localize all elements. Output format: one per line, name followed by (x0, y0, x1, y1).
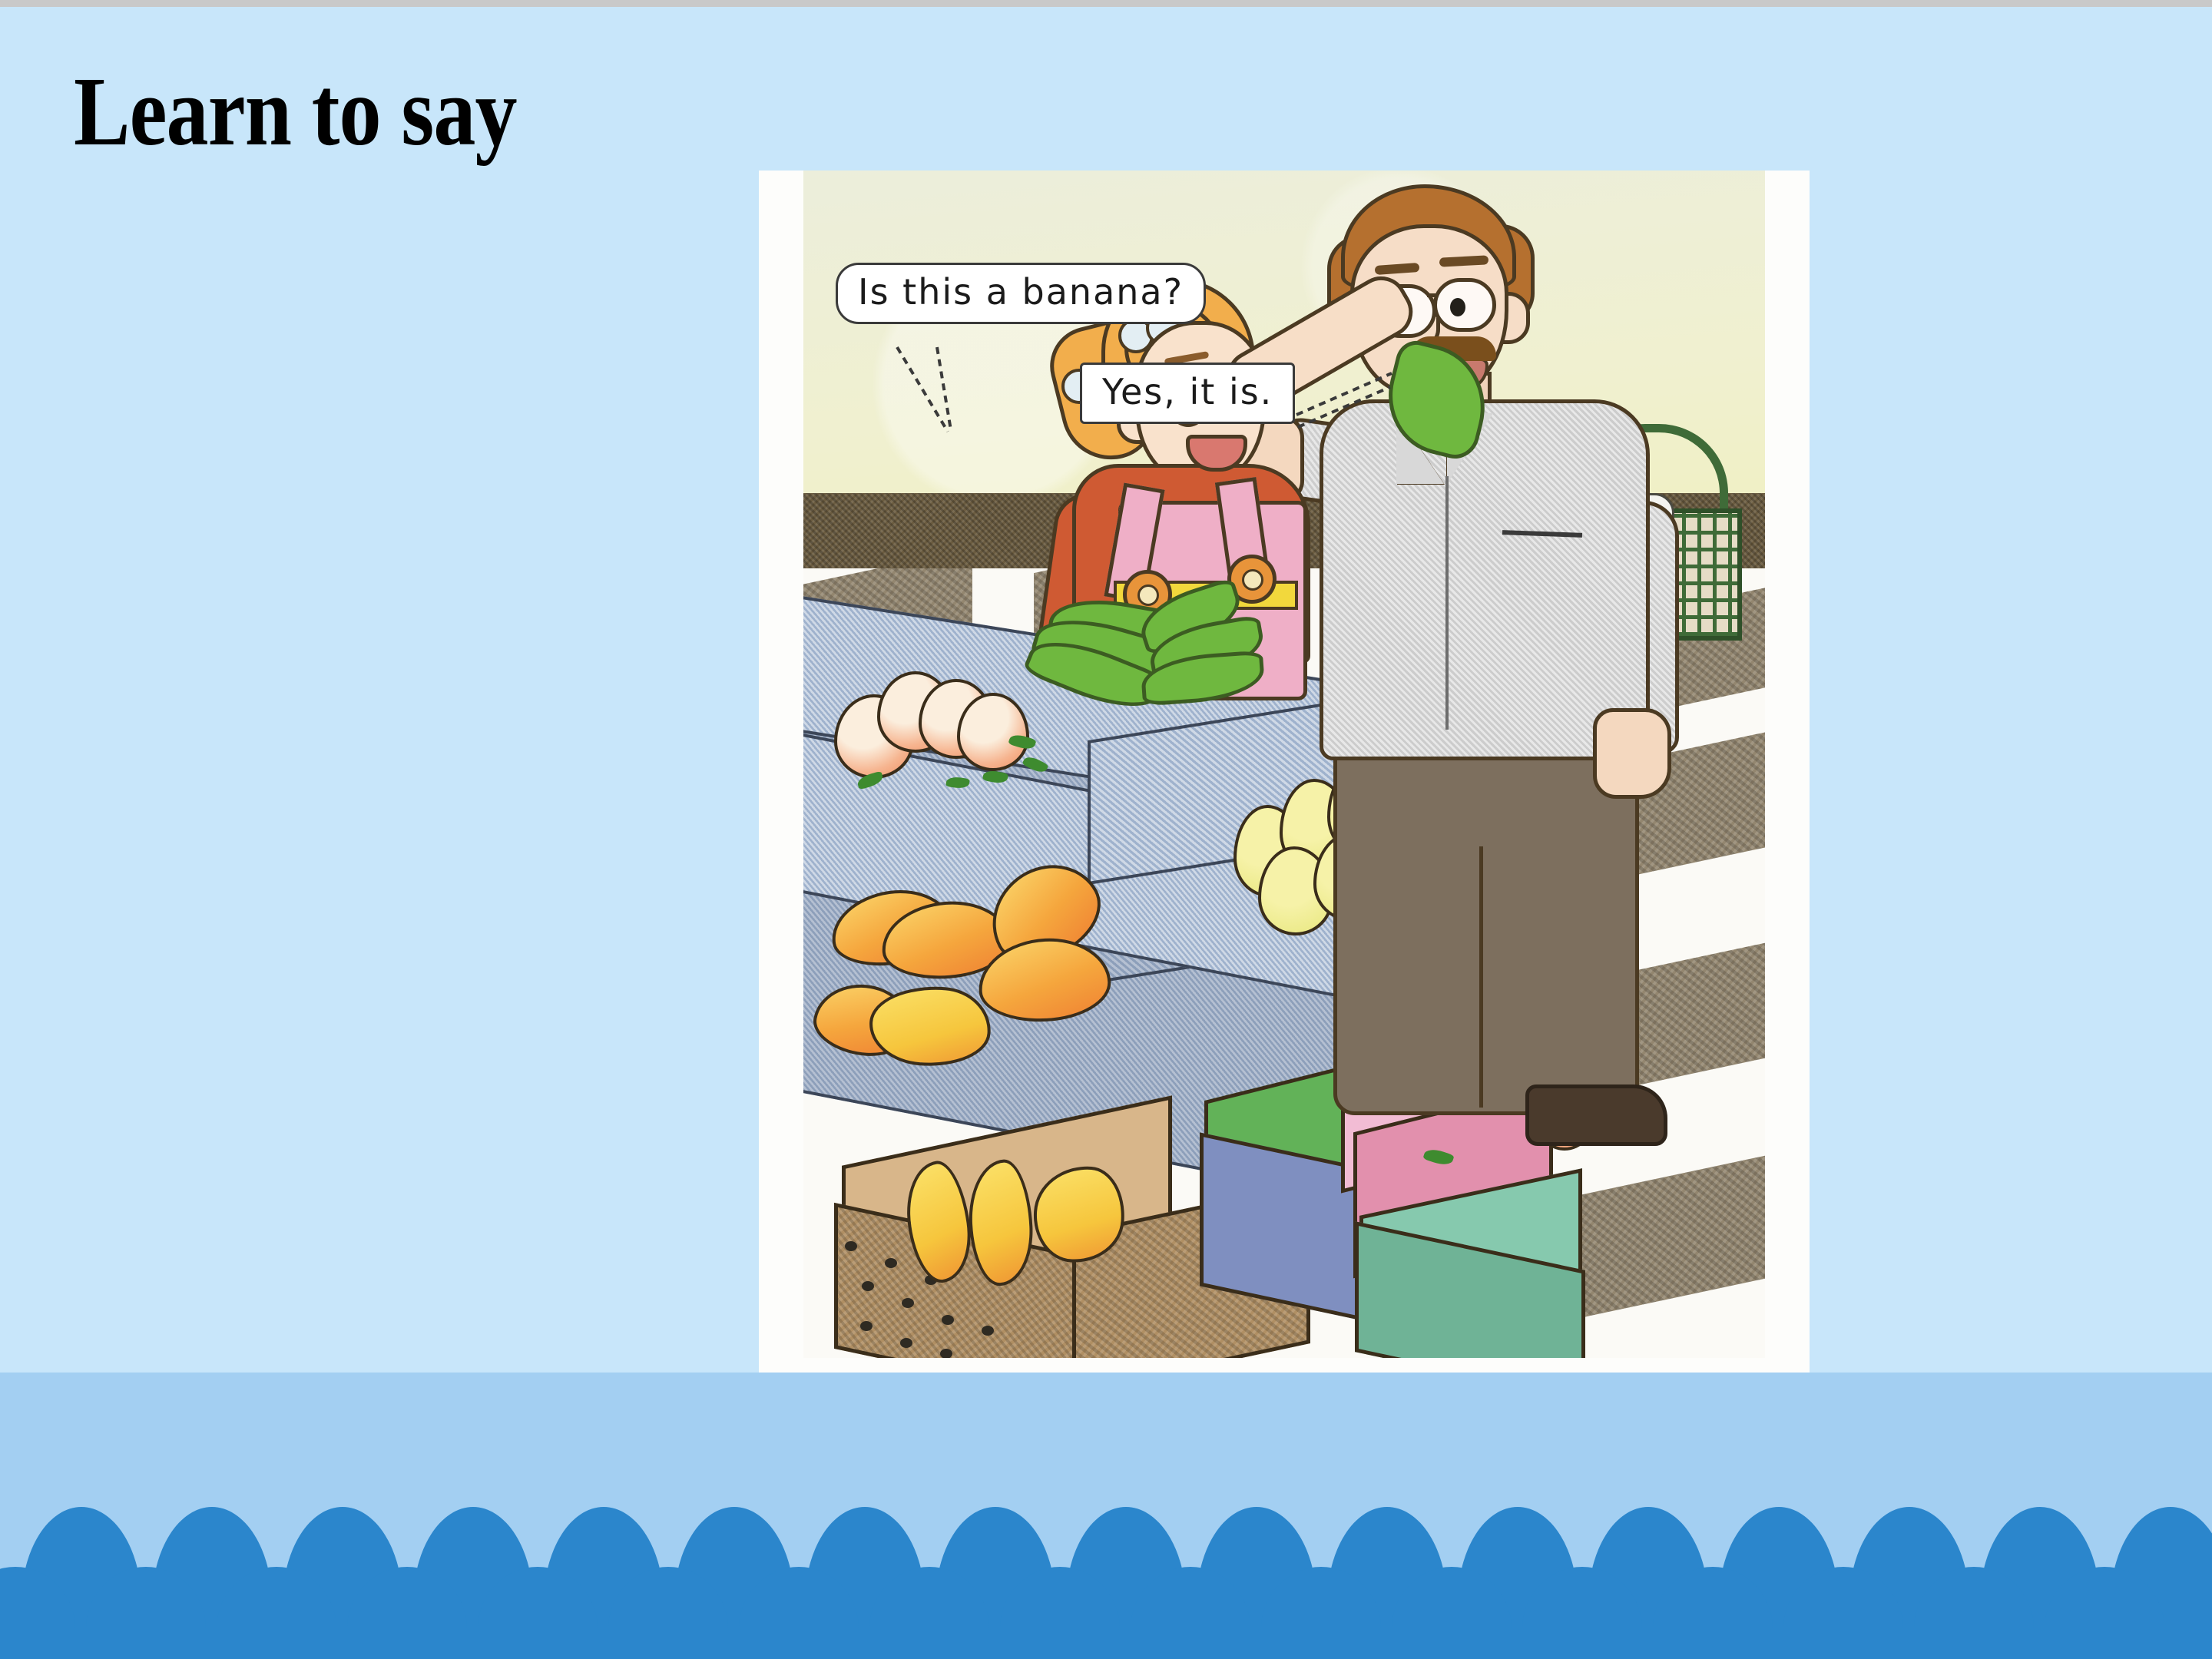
arch-shape (1000, 1567, 1120, 1659)
crate-dot (982, 1326, 994, 1336)
arch-shape (869, 1567, 989, 1659)
crate-dot (845, 1241, 857, 1251)
arch-shape (86, 1567, 206, 1659)
crate-dot (940, 1349, 952, 1358)
man-right-hand (1593, 708, 1671, 799)
arch-shape (2045, 1567, 2164, 1659)
arch-shape (608, 1567, 728, 1659)
arch-shape (1392, 1567, 1512, 1659)
arch-shape (739, 1567, 859, 1659)
arch-shape (1522, 1567, 1642, 1659)
arch-shape (1131, 1567, 1250, 1659)
speech-bubble-answer: Yes, it is. (1080, 363, 1295, 424)
man-shoe (1525, 1084, 1667, 1146)
arch-shape (1653, 1567, 1773, 1659)
arch-shape (478, 1567, 598, 1659)
illustration-image: Is this a banana? Yes, it is. (803, 171, 1765, 1358)
speech-tail-question (894, 346, 971, 438)
crate-dot (860, 1321, 873, 1331)
crate-dot (942, 1315, 954, 1325)
crate-dot (862, 1281, 874, 1291)
arch-shape (1783, 1567, 1903, 1659)
arch-row-front (0, 1567, 2212, 1659)
man-trouser-seam (1479, 846, 1483, 1108)
glasses-bridge (1427, 293, 1438, 297)
arch-shape (1261, 1567, 1381, 1659)
man-trousers (1333, 731, 1639, 1115)
crate-dot (900, 1338, 912, 1348)
crate-dot (885, 1258, 897, 1268)
illustration-frame: Is this a banana? Yes, it is. (759, 171, 1810, 1373)
crate-dot (902, 1298, 914, 1308)
slide-root: Learn to say (0, 0, 2212, 1659)
speech-bubble-question: Is this a banana? (836, 263, 1206, 324)
arch-shape (0, 1567, 75, 1659)
arch-shape (347, 1567, 467, 1659)
man-pupil-right (1450, 298, 1465, 316)
window-chrome-strip (0, 0, 2212, 7)
speech-tail-answer (1295, 369, 1395, 438)
arch-shape (1914, 1567, 2034, 1659)
man-shirt-placket (1445, 476, 1449, 730)
arch-shape (217, 1567, 336, 1659)
page-title: Learn to say (74, 60, 517, 163)
